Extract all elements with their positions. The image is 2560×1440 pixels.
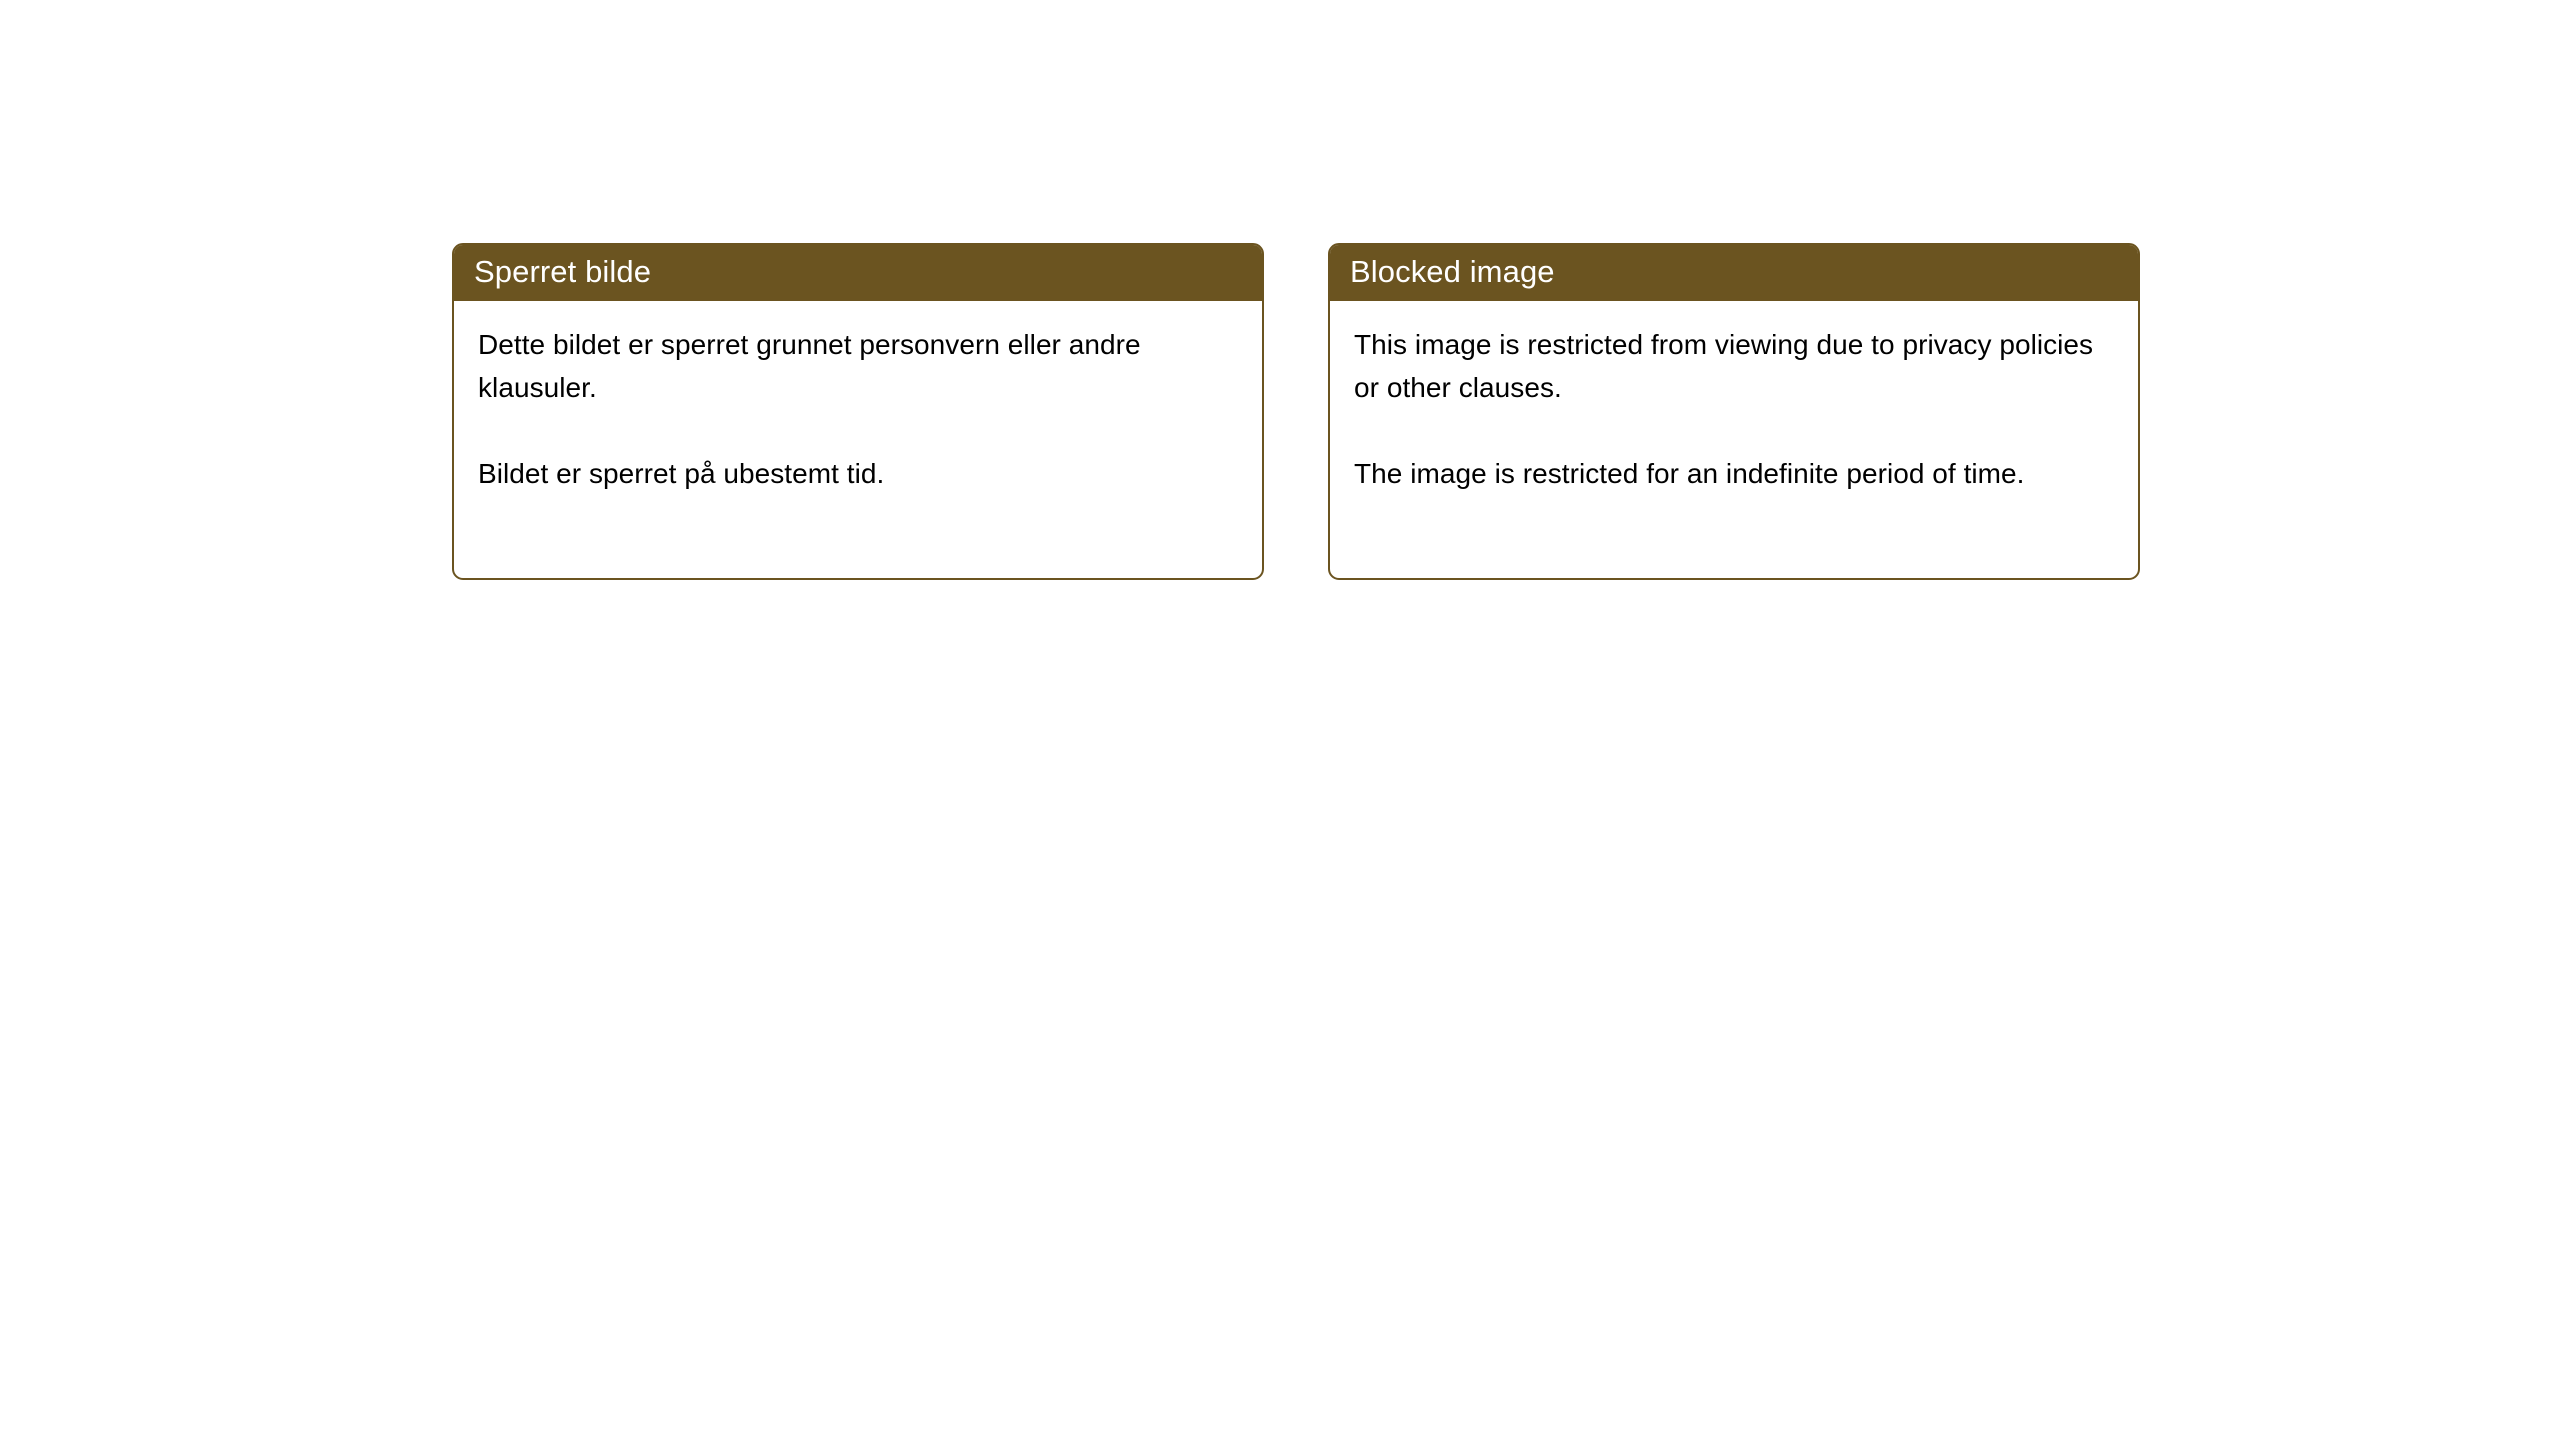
card-title-norwegian: Sperret bilde [474, 254, 651, 290]
blocked-image-card-norwegian: Sperret bilde Dette bildet er sperret gr… [452, 243, 1264, 580]
paragraph-spacer [1354, 409, 2108, 452]
card-paragraph-primary-english: This image is restricted from viewing du… [1354, 323, 2108, 409]
card-title-english: Blocked image [1350, 254, 1555, 290]
card-body-norwegian: Dette bildet er sperret grunnet personve… [454, 301, 1262, 578]
blocked-image-card-english: Blocked image This image is restricted f… [1328, 243, 2140, 580]
card-header-norwegian: Sperret bilde [452, 243, 1264, 301]
card-paragraph-secondary-norwegian: Bildet er sperret på ubestemt tid. [478, 452, 1232, 495]
card-paragraph-primary-norwegian: Dette bildet er sperret grunnet personve… [478, 323, 1232, 409]
card-body-english: This image is restricted from viewing du… [1330, 301, 2138, 578]
paragraph-spacer [478, 409, 1232, 452]
card-header-english: Blocked image [1328, 243, 2140, 301]
blocked-image-notice-group: Sperret bilde Dette bildet er sperret gr… [452, 243, 2140, 580]
card-paragraph-secondary-english: The image is restricted for an indefinit… [1354, 452, 2108, 495]
